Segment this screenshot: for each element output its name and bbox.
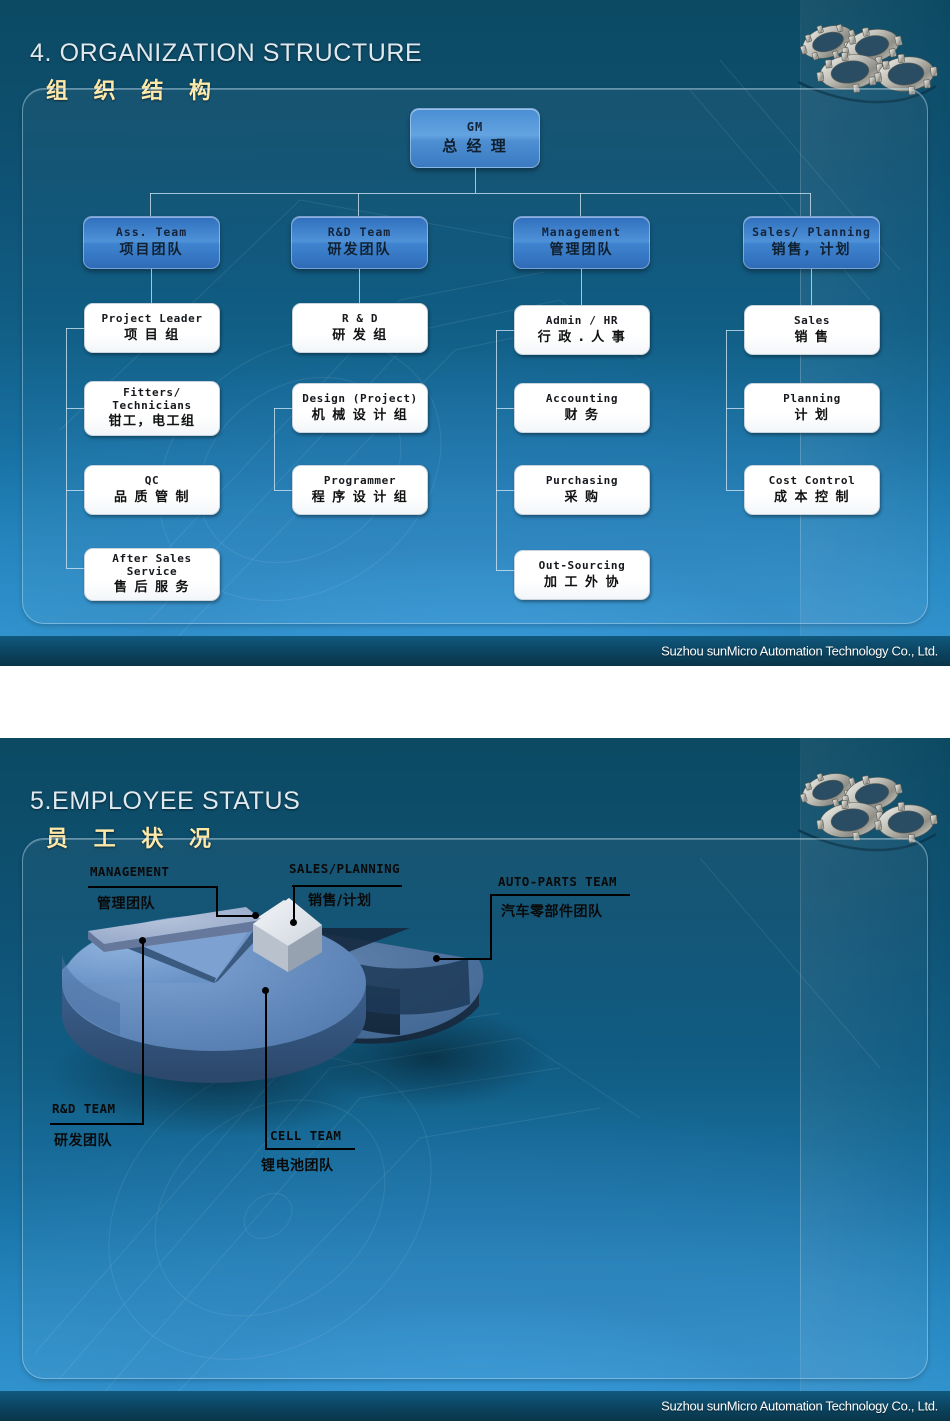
- org-node-rd[interactable]: R & D 研 发 组: [292, 303, 428, 353]
- org-node-accounting[interactable]: Accounting 财 务: [514, 383, 650, 433]
- callout-cell-team-cn: 锂电池团队: [261, 1155, 334, 1175]
- org-node-after-sales-service-en: After Sales Service: [112, 553, 191, 578]
- org-node-rd-team-en: R&D Team: [328, 226, 391, 239]
- callout-auto-parts-team-en: AUTO-PARTS TEAM: [498, 874, 617, 889]
- connector-ass-stub-2: [66, 408, 84, 409]
- org-node-qc-cn: 品 质 管 制: [114, 490, 190, 506]
- connector-sales-trunk: [811, 269, 812, 305]
- org-node-sales-planning-cn: 销售，计划: [772, 242, 852, 259]
- connector-ass-team-spine: [66, 328, 67, 568]
- org-node-out-sourcing-cn: 加 工 外 协: [544, 575, 620, 591]
- org-node-admin-hr[interactable]: Admin / HR 行 政 . 人 事: [514, 305, 650, 355]
- org-node-gm-cn: 总 经 理: [442, 137, 507, 155]
- employee-pie-chart: MANAGEMENT 管理团队 SALES/PLANNING 销售/计划 AUT…: [0, 738, 950, 1421]
- org-node-ass-team[interactable]: Ass. Team 项目团队: [83, 216, 220, 269]
- connector-ass-team-trunk: [151, 269, 152, 303]
- connector-management-trunk: [581, 269, 582, 305]
- org-node-management[interactable]: Management 管理团队: [513, 216, 650, 269]
- org-node-rd-team[interactable]: R&D Team 研发团队: [291, 216, 428, 269]
- callout-management-lead-v: [216, 886, 218, 916]
- org-node-accounting-cn: 财 务: [564, 408, 599, 424]
- callout-auto-parts-lead-h: [437, 958, 492, 960]
- org-node-after-sales-service[interactable]: After Sales Service 售 后 服 务: [84, 548, 220, 601]
- slide-organization-structure: 4. ORGANIZATION STRUCTURE 组 织 结 构: [0, 0, 950, 666]
- org-node-project-leader-en: Project Leader: [101, 313, 202, 326]
- org-node-purchasing-cn: 采 购: [564, 490, 599, 506]
- callout-cell-lead-v: [265, 990, 267, 1148]
- org-node-management-en: Management: [542, 226, 621, 239]
- org-node-fitters-technicians-cn: 钳工，电工组: [108, 414, 195, 430]
- connector-sales-stub-1: [726, 330, 744, 331]
- callout-rd-team-cn: 研发团队: [54, 1130, 112, 1150]
- org-node-after-sales-service-cn: 售 后 服 务: [114, 580, 190, 596]
- connector-rd-team-spine: [274, 408, 275, 490]
- callout-auto-parts-underline: [490, 894, 630, 896]
- org-node-ass-team-cn: 项目团队: [120, 242, 184, 259]
- org-node-admin-hr-en: Admin / HR: [546, 315, 618, 328]
- org-node-fitters-technicians[interactable]: Fitters/ Technicians 钳工，电工组: [84, 381, 220, 436]
- connector-branch2-down: [358, 193, 359, 216]
- callout-management-lead-h: [216, 915, 256, 917]
- connector-branch3-down: [580, 193, 581, 216]
- org-node-gm[interactable]: GM 总 经 理: [410, 108, 540, 168]
- callout-rd-team-en: R&D TEAM: [52, 1101, 115, 1116]
- callout-management-dot: [252, 912, 259, 919]
- org-node-planning-cn: 计 划: [794, 408, 829, 424]
- slide1-footer-text: Suzhou sunMicro Automation Technology Co…: [661, 644, 938, 659]
- connector-rd-stub-2: [274, 408, 292, 409]
- callout-sales-planning-underline: [292, 885, 402, 887]
- slide1-footer: Suzhou sunMicro Automation Technology Co…: [0, 636, 950, 666]
- org-node-project-leader[interactable]: Project Leader 项 目 组: [84, 303, 220, 353]
- connector-ass-stub-1: [66, 328, 84, 329]
- org-node-project-leader-cn: 项 目 组: [124, 328, 180, 344]
- org-node-sales-cn: 销 售: [794, 330, 829, 346]
- org-node-design-project-cn: 机 械 设 计 组: [312, 408, 409, 424]
- connector-mgmt-stub-4: [496, 570, 514, 571]
- org-node-management-cn: 管理团队: [550, 242, 614, 259]
- connector-mgmt-stub-2: [496, 408, 514, 409]
- org-node-accounting-en: Accounting: [546, 393, 618, 406]
- connector-branch4-down: [810, 193, 811, 216]
- callout-auto-parts-dot: [433, 955, 440, 962]
- org-chart: GM 总 经 理 Ass. Team 项目团队 Project: [0, 0, 950, 666]
- org-node-cost-control[interactable]: Cost Control 成 本 控 制: [744, 465, 880, 515]
- slide2-footer-text: Suzhou sunMicro Automation Technology Co…: [661, 1399, 938, 1414]
- callout-cell-dot: [262, 987, 269, 994]
- org-node-planning[interactable]: Planning 计 划: [744, 383, 880, 433]
- org-node-out-sourcing-en: Out-Sourcing: [539, 560, 626, 573]
- org-node-rd-en: R & D: [342, 313, 378, 326]
- org-node-programmer-en: Programmer: [324, 475, 396, 488]
- presentation-deck: 4. ORGANIZATION STRUCTURE 组 织 结 构: [0, 0, 950, 1421]
- callout-management-en: MANAGEMENT: [90, 864, 169, 879]
- connector-management-spine: [496, 330, 497, 570]
- org-node-design-project-en: Design (Project): [302, 393, 418, 406]
- org-node-purchasing[interactable]: Purchasing 采 购: [514, 465, 650, 515]
- connector-sales-spine: [726, 330, 727, 490]
- org-node-sales-planning-en: Sales/ Planning: [752, 226, 871, 239]
- callout-rd-underline: [50, 1123, 144, 1125]
- connector-root-bus: [150, 193, 811, 194]
- callout-sales-planning-lead-v: [293, 885, 295, 922]
- connector-sales-stub-2: [726, 408, 744, 409]
- callout-auto-parts-lead-v: [490, 894, 492, 960]
- org-node-cost-control-cn: 成 本 控 制: [774, 490, 850, 506]
- connector-branch1-down: [150, 193, 151, 216]
- org-node-design-project[interactable]: Design (Project) 机 械 设 计 组: [292, 383, 428, 433]
- callout-management-cn: 管理团队: [97, 893, 155, 913]
- org-node-sales-planning[interactable]: Sales/ Planning 销售，计划: [743, 216, 880, 269]
- slide2-footer: Suzhou sunMicro Automation Technology Co…: [0, 1391, 950, 1421]
- callout-rd-dot: [139, 937, 146, 944]
- org-node-out-sourcing[interactable]: Out-Sourcing 加 工 外 协: [514, 550, 650, 600]
- connector-sales-stub-3: [726, 490, 744, 491]
- connector-ass-stub-3: [66, 490, 84, 491]
- org-node-qc-en: QC: [145, 475, 159, 488]
- org-node-admin-hr-cn: 行 政 . 人 事: [538, 330, 627, 346]
- org-node-planning-en: Planning: [783, 393, 841, 406]
- org-node-fitters-technicians-en: Fitters/ Technicians: [112, 387, 191, 412]
- connector-ass-stub-4: [66, 568, 84, 569]
- callout-sales-planning-cn: 销售/计划: [308, 890, 372, 910]
- callout-cell-team-en: CELL TEAM: [270, 1128, 341, 1143]
- org-node-purchasing-en: Purchasing: [546, 475, 618, 488]
- org-node-sales[interactable]: Sales 销 售: [744, 305, 880, 355]
- callout-rd-lead-v: [142, 940, 144, 1115]
- callout-rd-lead-v2: [142, 1113, 144, 1125]
- connector-rd-team-trunk: [359, 269, 360, 303]
- connector-mgmt-stub-3: [496, 490, 514, 491]
- slide-employee-status: 5.EMPLOYEE STATUS 员 工 状 况: [0, 738, 950, 1421]
- org-node-gm-en: GM: [467, 121, 483, 135]
- callout-sales-planning-dot: [290, 919, 297, 926]
- callout-cell-underline: [265, 1148, 355, 1150]
- org-node-qc[interactable]: QC 品 质 管 制: [84, 465, 220, 515]
- org-node-ass-team-en: Ass. Team: [116, 226, 187, 239]
- org-node-programmer[interactable]: Programmer 程 序 设 计 组: [292, 465, 428, 515]
- callout-management-underline: [88, 886, 218, 888]
- org-node-programmer-cn: 程 序 设 计 组: [312, 490, 409, 506]
- connector-rd-stub-3: [274, 490, 292, 491]
- org-node-rd-cn: 研 发 组: [332, 328, 388, 344]
- org-node-sales-en: Sales: [794, 315, 830, 328]
- org-node-rd-team-cn: 研发团队: [328, 242, 392, 259]
- connector-root-down: [475, 168, 476, 193]
- callout-auto-parts-team-cn: 汽车零部件团队: [501, 901, 603, 921]
- callout-sales-planning-en: SALES/PLANNING: [289, 861, 400, 876]
- connector-mgmt-stub-1: [496, 330, 514, 331]
- org-node-cost-control-en: Cost Control: [769, 475, 856, 488]
